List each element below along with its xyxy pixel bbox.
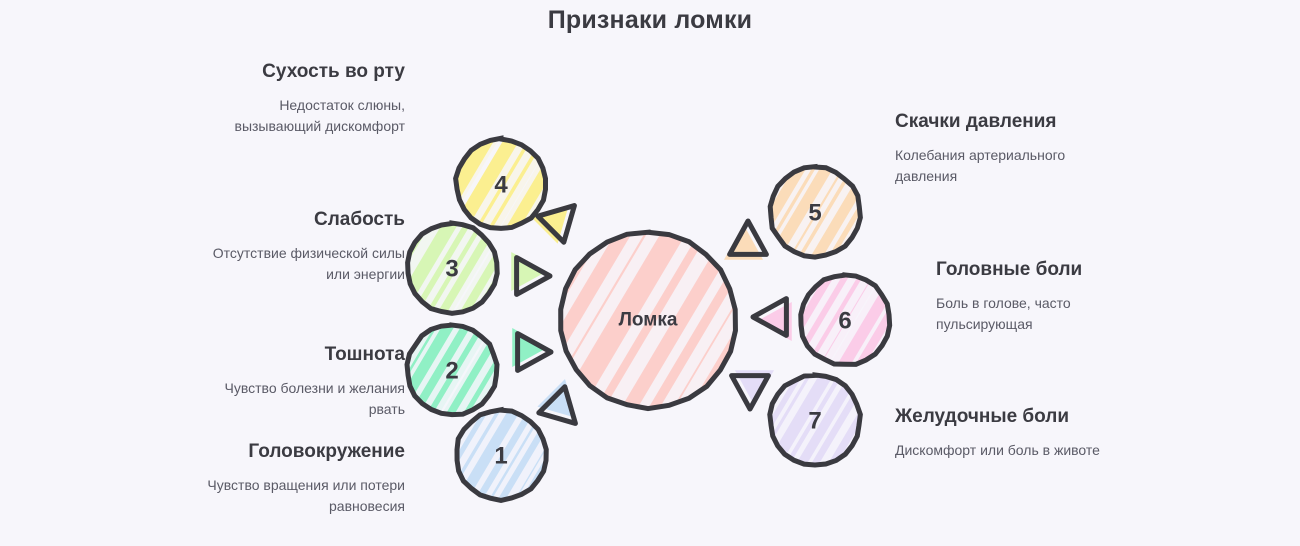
label-block-7: Желудочные болиДискомфорт или боль в жив…	[895, 405, 1105, 461]
arrow-node-7	[732, 370, 774, 409]
node-number-1: 1	[494, 443, 507, 470]
label-description-4: Недостаток слюны, вызывающий дискомфорт	[195, 95, 405, 138]
label-title-7: Желудочные боли	[895, 405, 1105, 430]
hub-label: Ломка	[619, 310, 678, 331]
label-block-1: ГоловокружениеЧувство вращения или потер…	[195, 440, 405, 518]
node-number-3: 3	[445, 256, 458, 283]
infographic-canvas: Признаки ломки 1234567 Ломка Головокруже…	[0, 0, 1300, 546]
arrow-node-3	[511, 252, 550, 294]
label-description-1: Чувство вращения или потери равновесия	[195, 475, 405, 518]
node-number-6: 6	[838, 308, 851, 335]
label-title-5: Скачки давления	[895, 110, 1105, 135]
node-number-4: 4	[494, 172, 508, 199]
label-block-2: ТошнотаЧувство болезни и желания рвать	[195, 343, 405, 421]
label-title-4: Сухость во рту	[195, 60, 405, 85]
label-block-5: Скачки давленияКолебания артериального д…	[895, 110, 1105, 188]
label-description-5: Колебания артериального давления	[895, 145, 1105, 188]
label-block-4: Сухость во ртуНедостаток слюны, вызывающ…	[195, 60, 405, 138]
arrow-node-2	[512, 328, 551, 370]
label-block-6: Головные болиБоль в голове, часто пульси…	[936, 258, 1146, 336]
label-description-7: Дискомфорт или боль в животе	[895, 440, 1105, 462]
node-number-5: 5	[808, 200, 821, 227]
label-title-6: Головные боли	[936, 258, 1146, 283]
label-description-2: Чувство болезни и желания рвать	[195, 378, 405, 421]
label-description-6: Боль в голове, часто пульсирующая	[936, 293, 1146, 336]
arrow-node-6	[753, 299, 792, 341]
arrow-node-5	[724, 221, 766, 260]
label-block-3: СлабостьОтсутствие физической силы или э…	[195, 208, 405, 286]
arrow-node-1	[535, 379, 592, 436]
node-number-2: 2	[445, 358, 458, 385]
node-number-7: 7	[808, 408, 821, 435]
label-title-2: Тошнота	[195, 343, 405, 368]
label-title-3: Слабость	[195, 208, 405, 233]
label-title-1: Головокружение	[195, 440, 405, 465]
label-description-3: Отсутствие физической силы или энергии	[195, 243, 405, 286]
